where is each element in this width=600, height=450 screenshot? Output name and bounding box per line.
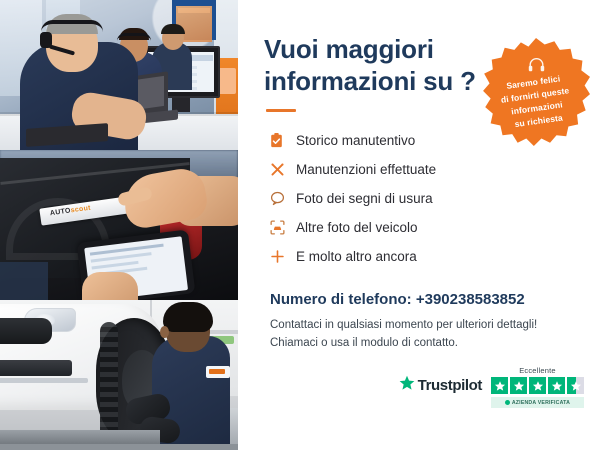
- photo-frame-car-icon: [270, 220, 296, 235]
- plus-icon: [270, 249, 296, 264]
- headset-icon-worn-2: [117, 33, 151, 41]
- speech-bubble-icon: [270, 191, 296, 206]
- photo-mechanic-inspecting-car-tyre-on-lift: [0, 300, 238, 450]
- list-item-altre-foto-veicolo: Altre foto del veicolo: [270, 213, 574, 242]
- list-item-label: Foto dei segni di usura: [296, 191, 433, 206]
- uniform-logo-patch: [206, 366, 230, 378]
- contact-note-line-1: Contattaci in qualsiasi momento per ulte…: [270, 317, 574, 335]
- clipboard-check-icon: [270, 133, 296, 148]
- list-item-label: Manutenzioni effettuate: [296, 162, 436, 177]
- trustpilot-stars: [491, 377, 584, 394]
- phone-number[interactable]: +390238583852: [416, 291, 525, 308]
- workshop-floor: [0, 444, 238, 450]
- content-panel: Vuoi maggiori informazioni su ? Saremo f…: [238, 0, 600, 450]
- verified-label: AZIENDA VERIFICATA: [512, 400, 570, 406]
- blue-overall-sleeve: [0, 262, 48, 300]
- contact-note: Contattaci in qualsiasi momento per ulte…: [270, 317, 574, 353]
- list-item-label: E molto altro ancora: [296, 249, 417, 264]
- photo-technician-measuring-car-bumper-with-tablet: AUTOscout: [0, 150, 238, 300]
- agent-hair-3: [161, 24, 185, 34]
- phone-label: Numero di telefono:: [270, 291, 412, 308]
- star-3: [529, 377, 546, 394]
- tools-wrench-screwdriver-icon: [270, 162, 296, 177]
- page-title-line-1: Vuoi maggiori: [264, 34, 434, 64]
- tyre-tread: [100, 322, 118, 440]
- list-item-label: Storico manutentivo: [296, 133, 415, 148]
- car-grille-lower: [0, 360, 72, 376]
- star-2: [510, 377, 527, 394]
- strip-brand-suffix: scout: [70, 205, 91, 215]
- list-item-molto-altro-ancora: E molto altro ancora: [270, 242, 574, 271]
- star-1: [491, 377, 508, 394]
- list-item-manutenzioni-effettuate: Manutenzioni effettuate: [270, 155, 574, 184]
- trustpilot-rating: Eccellente AZIENDA VERIFICATA: [491, 366, 584, 408]
- verified-check-icon: [505, 400, 510, 405]
- trustpilot-logo: Trustpilot: [399, 366, 482, 396]
- trustpilot-star-icon: [399, 375, 415, 396]
- mechanic-ear: [160, 326, 169, 338]
- photo-call-center-agents-with-headsets: [0, 0, 238, 150]
- feature-list: Storico manutentivo Manutenzioni effettu…: [270, 126, 574, 271]
- car-grille-upper: [0, 318, 52, 344]
- trustpilot-widget[interactable]: Trustpilot Eccellente AZIENDA VERIFICATA: [399, 366, 584, 408]
- status-badge-verified-company: AZIENDA VERIFICATA: [491, 397, 584, 408]
- photo-column: AUTOscout: [0, 0, 238, 450]
- bumper-chrome-trim: [0, 378, 88, 383]
- trustpilot-wordmark: Trustpilot: [418, 377, 482, 394]
- list-item-label: Altre foto del veicolo: [296, 220, 418, 235]
- technician-hand-holding-tablet: [82, 272, 138, 300]
- phone-number-line[interactable]: Numero di telefono: +390238583852: [270, 291, 574, 308]
- strip-brand-prefix: AUTO: [50, 207, 72, 217]
- strip-brand-label: AUTOscout: [50, 205, 92, 218]
- star-5-half: [567, 377, 584, 394]
- contact-note-line-2: Chiamaci o usa il modulo di contatto.: [270, 335, 574, 353]
- star-4: [548, 377, 565, 394]
- headset-icon-worn-1: [41, 20, 103, 32]
- promo-card: AUTOscout: [0, 0, 600, 450]
- availability-badge: Saremo felici di fornirti queste informa…: [482, 38, 590, 146]
- title-underline-divider: [266, 109, 296, 112]
- trustpilot-rating-label: Eccellente: [491, 366, 584, 375]
- list-item-foto-segni-usura: Foto dei segni di usura: [270, 184, 574, 213]
- mechanic-hair: [163, 302, 213, 332]
